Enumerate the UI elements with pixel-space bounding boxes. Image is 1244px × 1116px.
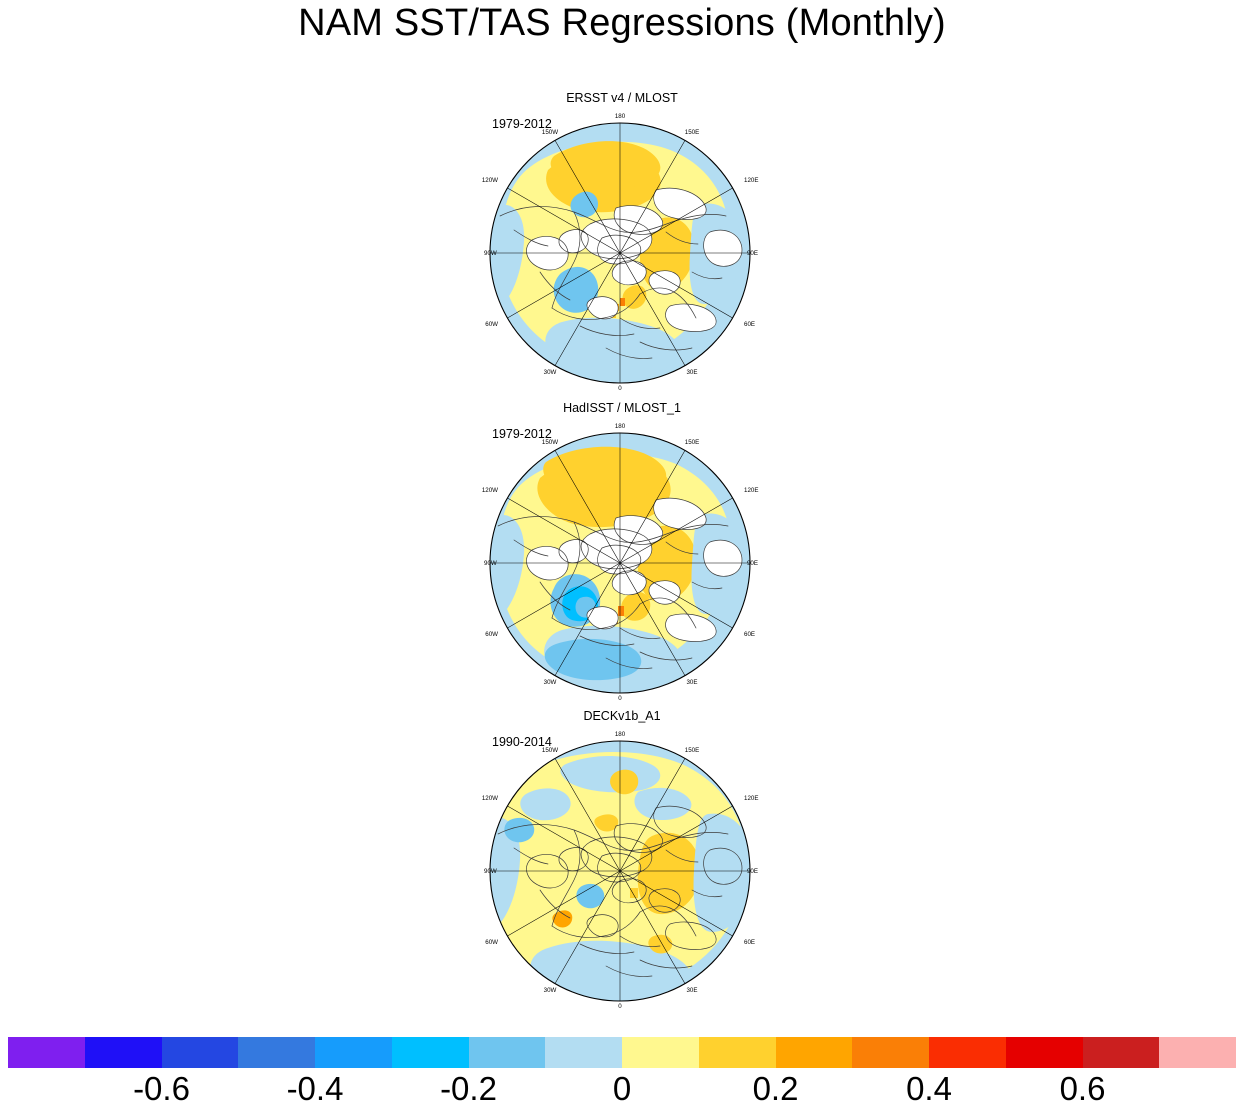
svg-text:30W: 30W [544,679,557,686]
svg-text:0: 0 [618,695,622,702]
svg-text:120W: 120W [482,487,498,494]
colorbar-tick-label: 0 [613,1070,631,1108]
svg-text:30E: 30E [686,987,697,994]
map-hadisst: 180 150W 120W 90W 60W 30W 0 30E 60E 90E … [470,422,770,707]
polar-map-svg: 180 150W 120W 90W 60W 30W 0 30E 60E 90E … [470,112,770,397]
colorbar-swatch [469,1037,546,1068]
colorbar-swatch [1159,1037,1236,1068]
svg-text:150E: 150E [685,747,699,754]
colorbar-swatch [162,1037,239,1068]
colorbar-tick-labels: -0.6-0.4-0.200.20.40.6 [0,1070,1244,1116]
colorbar [8,1037,1236,1068]
colorbar-tick-label: -0.4 [287,1070,344,1108]
colorbar-swatch [699,1037,776,1068]
svg-text:180: 180 [615,113,626,120]
svg-text:120E: 120E [744,487,758,494]
svg-text:60W: 60W [485,939,498,946]
svg-text:150W: 150W [542,439,558,446]
svg-text:180: 180 [615,731,626,738]
svg-text:60W: 60W [485,321,498,328]
svg-text:90W: 90W [484,868,497,875]
colorbar-tick-label: -0.2 [440,1070,497,1108]
colorbar-tick-label: -0.6 [133,1070,190,1108]
colorbar-swatch [238,1037,315,1068]
svg-text:30E: 30E [686,679,697,686]
colorbar-swatch [8,1037,85,1068]
colorbar-swatch [545,1037,622,1068]
colorbar-swatch [929,1037,1006,1068]
map-deck: 180 150W 120W 90W 60W 30W 0 30E 60E 90E … [470,730,770,1015]
colorbar-swatch [1006,1037,1083,1068]
svg-text:90W: 90W [484,250,497,257]
svg-text:60E: 60E [744,631,755,638]
colorbar-tick-label: 0.2 [753,1070,799,1108]
figure-root: NAM SST/TAS Regressions (Monthly) ERSST … [0,0,1244,1116]
svg-text:60E: 60E [744,939,755,946]
svg-text:180: 180 [615,423,626,430]
svg-text:120W: 120W [482,177,498,184]
svg-text:90W: 90W [484,560,497,567]
colorbar-swatch [315,1037,392,1068]
map-ersst: 180 150W 120W 90W 60W 30W 0 30E 60E 90E … [470,112,770,397]
colorbar-swatch [392,1037,469,1068]
svg-text:90E: 90E [747,868,758,875]
svg-text:150W: 150W [542,129,558,136]
svg-text:60W: 60W [485,631,498,638]
polar-map-svg: 180 150W 120W 90W 60W 30W 0 30E 60E 90E … [470,422,770,707]
colorbar-swatch [85,1037,162,1068]
svg-text:120E: 120E [744,177,758,184]
panel-title: DECKv1b_A1 [0,709,1244,723]
svg-text:30W: 30W [544,369,557,376]
colorbar-tick-label: 0.4 [906,1070,952,1108]
svg-text:30W: 30W [544,987,557,994]
svg-text:150E: 150E [685,129,699,136]
svg-text:150W: 150W [542,747,558,754]
colorbar-swatch [852,1037,929,1068]
svg-text:0: 0 [618,385,622,392]
colorbar-swatch [1083,1037,1160,1068]
colorbar-swatch [776,1037,853,1068]
panel-title: ERSST v4 / MLOST [0,91,1244,105]
svg-text:90E: 90E [747,250,758,257]
polar-map-svg: 180 150W 120W 90W 60W 30W 0 30E 60E 90E … [470,730,770,1015]
svg-text:0: 0 [618,1003,622,1010]
colorbar-tick-label: 0.6 [1060,1070,1106,1108]
svg-text:150E: 150E [685,439,699,446]
svg-text:30E: 30E [686,369,697,376]
svg-text:90E: 90E [747,560,758,567]
svg-text:60E: 60E [744,321,755,328]
colorbar-swatch [622,1037,699,1068]
panel-title: HadISST / MLOST_1 [0,401,1244,415]
figure-title: NAM SST/TAS Regressions (Monthly) [0,2,1244,45]
svg-text:120W: 120W [482,795,498,802]
svg-text:120E: 120E [744,795,758,802]
